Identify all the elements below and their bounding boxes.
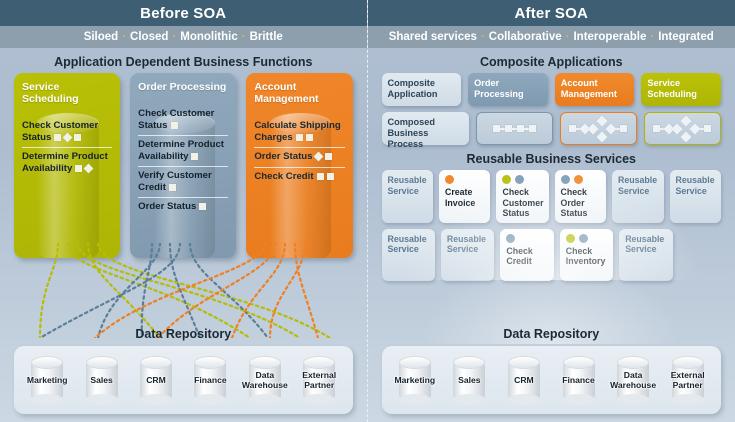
database-label: Data Warehouse [242, 370, 288, 390]
subtitle-item: Integrated [658, 31, 714, 43]
dot-blue-icon [561, 175, 570, 184]
service-label: Reusable Service [618, 175, 657, 196]
database-crm[interactable]: CRM [502, 354, 546, 406]
database-label: CRM [502, 375, 546, 385]
database-label: Marketing [393, 375, 437, 385]
dot-orange-icon [445, 175, 454, 184]
service-label: Reusable Service [388, 234, 427, 255]
dot-blue-icon [515, 175, 524, 184]
function-glyphs [317, 173, 334, 180]
database-label: Data Warehouse [610, 370, 656, 390]
service-create-invoice[interactable]: Create Invoice [439, 170, 490, 223]
bullet-separator-icon: · [122, 31, 126, 43]
service-check-customer-status[interactable]: Check Customer Status [496, 170, 548, 223]
square-icon [296, 134, 303, 141]
database-finance[interactable]: Finance [557, 354, 601, 406]
flow-node-icon [620, 125, 627, 132]
database-label: External Partner [666, 370, 710, 390]
subtitle-item: Interoperable [573, 31, 646, 43]
repository-title: Data Repository [0, 327, 367, 341]
square-icon [317, 173, 324, 180]
flow-node-icon [569, 125, 576, 132]
diamond-icon [314, 152, 324, 162]
function-item[interactable]: Calculate Shipping Charges [254, 117, 344, 147]
service-label: Check Order Status [561, 187, 588, 218]
flow-node-icon [704, 125, 711, 132]
subtitle-item: Collaborative [489, 31, 562, 43]
service-dot-indicators [506, 234, 548, 243]
flow-node-icon [597, 115, 608, 126]
function-glyphs [169, 184, 176, 191]
service-placeholder[interactable]: Reusable Service [382, 229, 435, 281]
composite-order-processing[interactable]: Order Processing [468, 73, 548, 106]
flow-node-icon [672, 123, 683, 134]
flow-node-icon [588, 123, 599, 134]
composed-business-process-label[interactable]: Composed Business Process [382, 112, 469, 145]
flow-node-icon [653, 125, 660, 132]
service-dot-indicators [561, 175, 601, 184]
function-list: Calculate Shipping Charges Order Status … [254, 117, 344, 186]
database-crm[interactable]: CRM [134, 354, 178, 406]
function-label: Order Status [138, 201, 196, 212]
square-icon [191, 153, 198, 160]
function-glyphs [296, 134, 313, 141]
database-label: Sales [80, 375, 124, 385]
flow-parallel-branch-icon [589, 117, 615, 141]
composite-row-2: Composed Business Process [382, 112, 722, 145]
function-item[interactable]: Determine Product Availability [138, 135, 228, 166]
service-label: Check Inventory [566, 246, 606, 267]
service-label: Reusable Service [447, 234, 486, 255]
composite-account-management[interactable]: Account Management [555, 73, 635, 106]
function-glyphs [75, 165, 92, 172]
square-icon [54, 134, 61, 141]
function-glyphs [315, 153, 332, 160]
app-column-service-scheduling[interactable]: Service Scheduling Check Customer Status… [14, 73, 120, 258]
soa-comparison-diagram: Before SOA Siloed · Closed · Monolithic … [0, 0, 735, 422]
left-section-title: Application Dependent Business Functions [0, 55, 367, 69]
app-column-order-processing[interactable]: Order Processing Check Customer Status D… [130, 73, 236, 258]
function-list: Check Customer Status Determine Product … [138, 105, 228, 217]
process-flow-branching-green[interactable] [644, 112, 721, 145]
function-item[interactable]: Order Status [138, 197, 228, 217]
database-external-partner[interactable]: External Partner [297, 354, 341, 406]
app-column-title: Order Processing [138, 81, 228, 93]
database-data-warehouse[interactable]: Data Warehouse [611, 354, 655, 406]
square-icon [325, 153, 332, 160]
services-row-1: Reusable Service Create Invoice Check Cu… [382, 170, 722, 223]
service-placeholder[interactable]: Reusable Service [670, 170, 721, 223]
database-sales[interactable]: Sales [80, 354, 124, 406]
function-item[interactable]: Verify Customer Credit [138, 166, 228, 197]
subtitle-item: Brittle [250, 31, 283, 43]
process-flow-linear[interactable] [476, 112, 553, 145]
flow-node-icon [681, 131, 692, 142]
function-label: Check Credit [254, 171, 313, 182]
service-placeholder[interactable]: Reusable Service [441, 229, 494, 281]
database-label: Marketing [25, 375, 69, 385]
database-data-warehouse[interactable]: Data Warehouse [243, 354, 287, 406]
left-data-repository: Data Repository Marketing Sales CRM Fina… [0, 327, 367, 414]
function-label: Determine Product Availability [138, 139, 224, 162]
dot-orange-icon [574, 175, 583, 184]
service-check-inventory[interactable]: Check Inventory [560, 229, 613, 281]
square-icon [327, 173, 334, 180]
function-item[interactable]: Check Customer Status [138, 105, 228, 135]
dot-green-icon [566, 234, 575, 243]
diamond-icon [84, 163, 94, 173]
square-icon [169, 184, 176, 191]
flow-node-icon [681, 115, 692, 126]
service-check-order-status[interactable]: Check Order Status [555, 170, 606, 223]
process-flow-branching-orange[interactable] [560, 112, 637, 145]
bullet-separator-icon: · [566, 31, 570, 43]
panel-after-soa: After SOA Shared services · Collaborativ… [368, 0, 735, 422]
square-icon [171, 122, 178, 129]
panel-right-title: After SOA [368, 0, 735, 26]
function-item[interactable]: Check Credit [254, 167, 344, 187]
service-dot-indicators [502, 175, 543, 184]
service-placeholder[interactable]: Reusable Service [619, 229, 672, 281]
bullet-separator-icon: · [172, 31, 176, 43]
app-column-title: Service Scheduling [22, 81, 112, 105]
service-placeholder[interactable]: Reusable Service [382, 170, 433, 223]
flow-node-icon [529, 125, 536, 132]
right-data-repository: Data Repository Marketing Sales CRM Fina… [368, 327, 735, 414]
flow-node-icon [517, 125, 524, 132]
square-icon [75, 165, 82, 172]
service-placeholder[interactable]: Reusable Service [612, 170, 663, 223]
function-list: Check Customer Status Determine Product … [22, 117, 112, 178]
flow-diagram-icon [569, 117, 627, 141]
database-sales[interactable]: Sales [447, 354, 491, 406]
database-finance[interactable]: Finance [188, 354, 232, 406]
database-label: External Partner [297, 370, 341, 390]
database-label: CRM [134, 375, 178, 385]
database-external-partner[interactable]: External Partner [666, 354, 710, 406]
function-glyphs [54, 134, 81, 141]
database-label: Finance [557, 375, 601, 385]
flow-node-icon [597, 131, 608, 142]
dot-green-icon [502, 175, 511, 184]
diamond-icon [63, 132, 73, 142]
function-glyphs [171, 122, 178, 129]
repository-box: Marketing Sales CRM Finance Data Warehou… [14, 346, 353, 414]
panel-right-subtitle: Shared services · Collaborative · Intero… [368, 26, 735, 48]
service-check-credit[interactable]: Check Credit [500, 229, 553, 281]
subtitle-item: Siloed [84, 31, 119, 43]
function-item[interactable]: Order Status [254, 147, 344, 167]
bullet-separator-icon: · [242, 31, 246, 43]
subtitle-item: Closed [130, 31, 168, 43]
dot-blue-icon [506, 234, 515, 243]
database-label: Finance [188, 375, 232, 385]
square-icon [74, 134, 81, 141]
subtitle-item: Shared services [389, 31, 477, 43]
service-label: Check Customer Status [502, 187, 543, 218]
flow-parallel-branch-icon [673, 117, 699, 141]
repository-box: Marketing Sales CRM Finance Data Warehou… [382, 346, 722, 414]
service-dot-indicators [566, 234, 608, 243]
app-column-title: Account Management [254, 81, 344, 105]
function-item[interactable]: Check Customer Status [22, 117, 112, 147]
flow-node-icon [690, 123, 701, 134]
database-marketing[interactable]: Marketing [25, 354, 69, 406]
repository-title: Data Repository [368, 327, 735, 341]
composite-row-1: Composite Application Order Processing A… [382, 73, 722, 106]
function-glyphs [199, 203, 206, 210]
function-label: Order Status [254, 151, 312, 162]
app-column-account-management[interactable]: Account Management Calculate Shipping Ch… [246, 73, 352, 258]
flow-node-icon [606, 123, 617, 134]
database-label: Sales [447, 375, 491, 385]
panel-left-title: Before SOA [0, 0, 367, 26]
service-label: Create Invoice [445, 187, 475, 208]
reusable-services-grid: Reusable Service Create Invoice Check Cu… [368, 170, 735, 281]
flow-diagram-icon [653, 117, 711, 141]
composite-applications-title: Composite Applications [368, 55, 735, 69]
panel-before-soa: Before SOA Siloed · Closed · Monolithic … [0, 0, 368, 422]
composite-application-label[interactable]: Composite Application [382, 73, 462, 106]
function-glyphs [191, 153, 198, 160]
function-item[interactable]: Determine Product Availability [22, 147, 112, 178]
subtitle-item: Monolithic [180, 31, 238, 43]
service-label: Reusable Service [676, 175, 715, 196]
bullet-separator-icon: · [481, 31, 485, 43]
service-label: Check Credit [506, 246, 532, 267]
database-marketing[interactable]: Marketing [393, 354, 437, 406]
function-label: Determine Product Availability [22, 151, 108, 174]
service-dot-indicators [445, 175, 485, 184]
service-label: Reusable Service [388, 175, 427, 196]
services-row-2: Reusable Service Reusable Service Check … [382, 229, 722, 281]
square-icon [199, 203, 206, 210]
reusable-services-title: Reusable Business Services [368, 152, 735, 166]
square-icon [306, 134, 313, 141]
panel-left-subtitle: Siloed · Closed · Monolithic · Brittle [0, 26, 367, 48]
composite-service-scheduling[interactable]: Service Scheduling [641, 73, 721, 106]
dot-blue-icon [579, 234, 588, 243]
flow-node-icon [493, 125, 500, 132]
flow-diagram-icon [493, 125, 536, 132]
service-label: Reusable Service [625, 234, 664, 255]
composite-applications-grid: Composite Application Order Processing A… [368, 73, 735, 145]
flow-node-icon [505, 125, 512, 132]
bullet-separator-icon: · [650, 31, 654, 43]
application-columns: Service Scheduling Check Customer Status… [0, 73, 367, 258]
